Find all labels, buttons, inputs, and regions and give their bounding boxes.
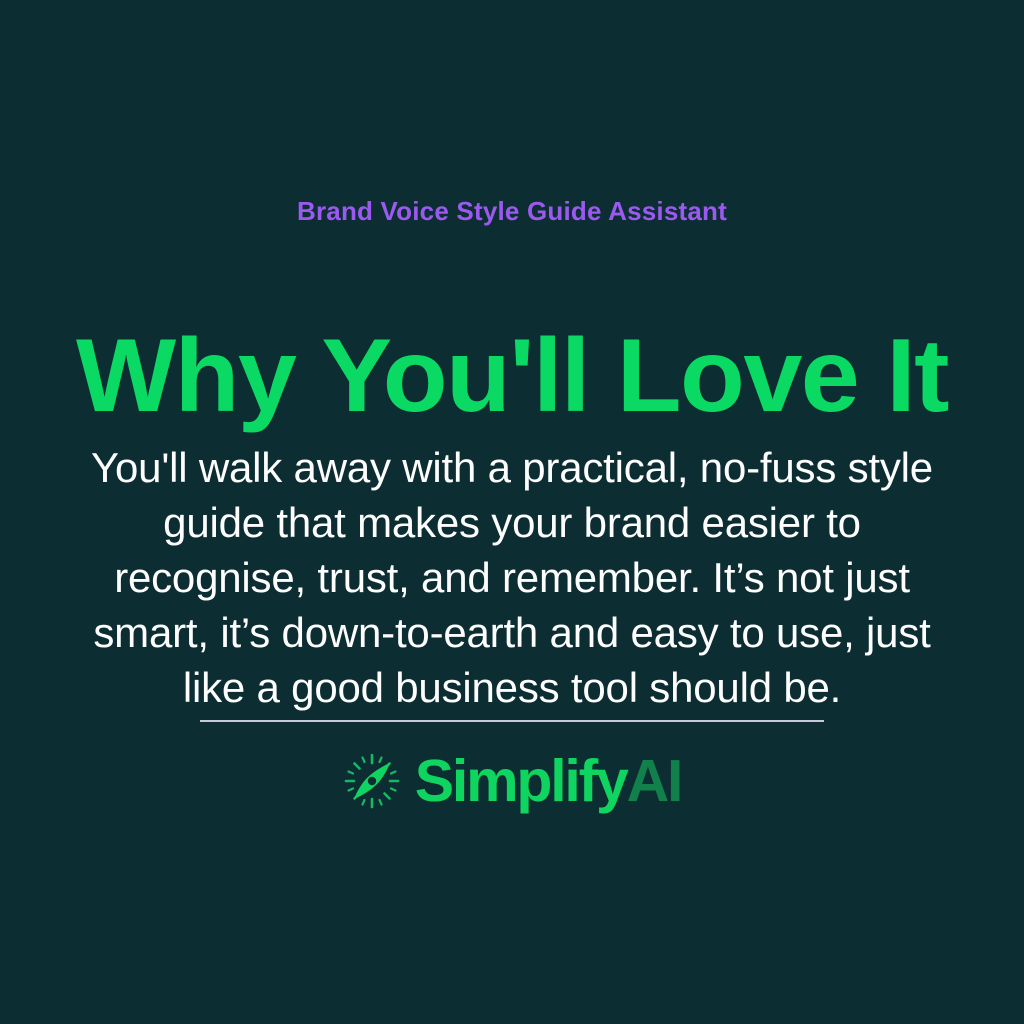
brand-logo: SimplifyAI	[0, 752, 1024, 810]
compass-sparkle-icon	[343, 752, 401, 810]
logo-word-ai: AI	[627, 748, 682, 814]
eyebrow-label: Brand Voice Style Guide Assistant	[0, 196, 1024, 227]
logo-wordmark: SimplifyAI	[415, 752, 682, 810]
slide-canvas: Brand Voice Style Guide Assistant Why Yo…	[0, 0, 1024, 1024]
logo-word-simplify: Simplify	[415, 748, 627, 814]
page-title: Why You'll Love It	[0, 320, 1024, 432]
body-paragraph: You'll walk away with a practical, no-fu…	[62, 440, 962, 715]
divider	[200, 720, 824, 722]
